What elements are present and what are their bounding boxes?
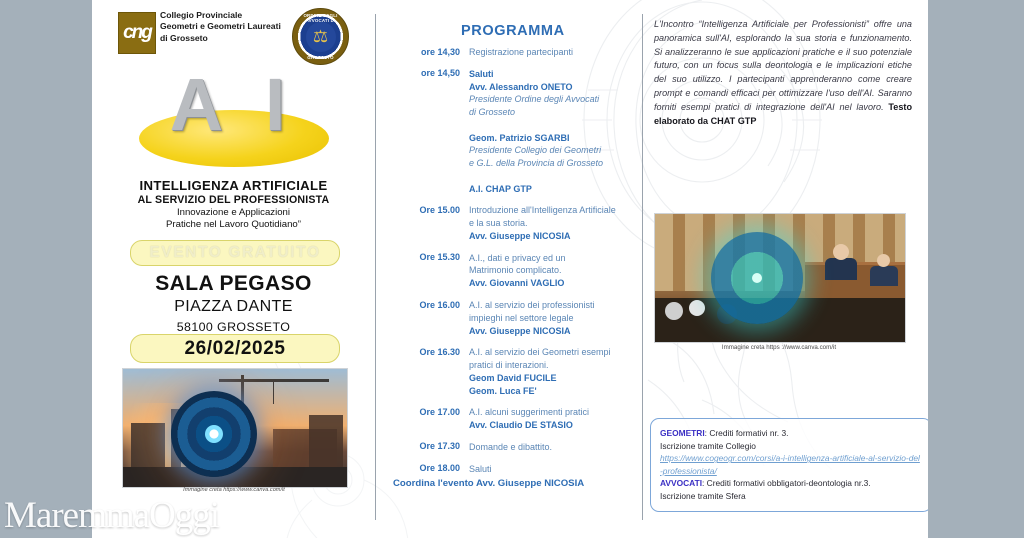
program-line: Geom. Luca FE': [469, 385, 637, 398]
program-line: A.I., dati e privacy ed un: [469, 252, 637, 265]
courtroom-ai-image: [654, 213, 906, 343]
registration-url-link[interactable]: https://www.cogeogr.com/corsi/a-i-intell…: [660, 452, 922, 477]
program-line: Presidente Ordine degli Avvocati: [469, 93, 637, 106]
program-time: Ore 17.30: [385, 441, 469, 454]
maremmaoggi-tld: .net: [223, 513, 245, 534]
poster-column: cng Collegio Provinciale Geometri e Geom…: [92, 0, 375, 538]
program-line: Avv. Giuseppe NICOSIA: [469, 230, 637, 243]
ai-letters: A I: [92, 68, 375, 142]
program-time: Ore 17.00: [385, 406, 469, 432]
program-time: Ore 18.00: [385, 463, 469, 476]
program-row: Ore 15.30A.I., dati e privacy ed unMatri…: [385, 252, 637, 290]
program-line: Saluti: [469, 68, 637, 81]
ai-hero-graphic: A I: [92, 68, 375, 176]
audience-head-1: [665, 302, 683, 320]
program-line: Avv. Alessandro ONETO: [469, 81, 637, 94]
program-line: A.I. CHAP GTP: [469, 183, 637, 196]
program-line: Geom David FUCILE: [469, 372, 637, 385]
credits-info-box: GEOMETRI: Crediti formativi nr. 3. Iscri…: [650, 418, 928, 512]
clerk-head: [877, 254, 890, 267]
program-line: di Grosseto: [469, 106, 637, 119]
venue-name: SALA PEGASO: [92, 272, 375, 296]
avvocati-credits: : Crediti formativi obbligatori-deontolo…: [702, 478, 871, 488]
judge-head: [833, 244, 849, 260]
program-line: e G.L. della Provincia di Grosseto: [469, 157, 637, 170]
description-column: L'Incontro “Intelligenza Artificiale per…: [642, 0, 928, 538]
geometri-registration: Iscrizione tramite Collegio: [660, 441, 756, 451]
program-entry: SalutiAvv. Alessandro ONETOPresidente Or…: [469, 68, 637, 196]
event-date-badge: 26/02/2025: [130, 334, 340, 363]
program-time: Ore 15.30: [385, 252, 469, 290]
neural-network-sphere: [711, 232, 803, 324]
collegio-geometri-logo: cng: [118, 12, 156, 54]
venue-city: 58100 GROSSETO: [92, 320, 375, 334]
poster-subtitle: AL SERVIZIO DEL PROFESSIONISTA: [92, 194, 375, 206]
program-row: ore 14,30Registrazione partecipanti: [385, 46, 637, 59]
collegio-line-1: Collegio Provinciale: [160, 10, 310, 21]
maremmaoggi-watermark: MaremmaOggi .net: [4, 486, 254, 534]
collegio-line-2: Geometri e Geometri Laureati: [160, 21, 310, 32]
program-entry: A.I. alcuni suggerimenti praticiAvv. Cla…: [469, 406, 637, 432]
program-line: impieghi nel settore legale: [469, 312, 637, 325]
program-line: Presidente Collegio dei Geometri: [469, 144, 637, 157]
program-line: Introduzione all'Intelligenza Artificial…: [469, 204, 637, 217]
program-title: PROGRAMMA: [461, 23, 565, 39]
program-entry: Registrazione partecipanti: [469, 46, 637, 59]
program-entry: Domande e dibattito.: [469, 441, 637, 454]
geometri-credits: : Crediti formativi nr. 3.: [705, 428, 789, 438]
venue-address: PIAZZA DANTE: [92, 298, 375, 316]
program-line: A.I. alcuni suggerimenti pratici: [469, 406, 637, 419]
avvocati-registration: Iscrizione tramite Sfera: [660, 491, 746, 501]
program-time: Ore 16.00: [385, 299, 469, 337]
program-row: Ore 16.00A.I. al servizio dei profession…: [385, 299, 637, 337]
program-list: ore 14,30Registrazione partecipantiore 1…: [385, 46, 637, 484]
flyer-document: cng Collegio Provinciale Geometri e Geom…: [92, 0, 928, 538]
description-image-caption: Immagine creta https ://www.canva.com/it: [654, 344, 904, 351]
program-line: [469, 119, 637, 132]
program-line: A.I. al servizio dei professionisti: [469, 299, 637, 312]
clerk-body: [870, 266, 898, 286]
program-line: e la sua storia.: [469, 217, 637, 230]
program-entry: A.I. al servizio dei professionistiimpie…: [469, 299, 637, 337]
program-entry: A.I., dati e privacy ed unMatrimonio com…: [469, 252, 637, 290]
program-time: ore 14,30: [385, 46, 469, 59]
program-row: Ore 17.30Domande e dibattito.: [385, 441, 637, 454]
program-time: ore 14,50: [385, 68, 469, 196]
program-time: Ore 16.30: [385, 346, 469, 397]
free-event-badge: EVENTO GRATUITO: [130, 240, 340, 266]
program-entry: Saluti: [469, 463, 637, 476]
program-entry: A.I. al servizio dei Geometri esempiprat…: [469, 346, 637, 397]
scales-of-justice-icon: ⚖: [306, 22, 336, 52]
poster-tagline-2: Pratiche nel Lavoro Quotidiano”: [92, 219, 375, 230]
program-row: Ore 17.00A.I. alcuni suggerimenti pratic…: [385, 406, 637, 432]
program-line: Avv. Giovanni VAGLIO: [469, 277, 637, 290]
poster-title: INTELLIGENZA ARTIFICIALE: [92, 178, 375, 193]
seal-bottom-text: GROSSETO: [293, 55, 348, 60]
judge-body: [825, 258, 857, 280]
program-row: Ore 18.00Saluti: [385, 463, 637, 476]
program-line: Avv. Giuseppe NICOSIA: [469, 325, 637, 338]
logo-header: cng Collegio Provinciale Geometri e Geom…: [92, 6, 375, 64]
program-line: Geom. Patrizio SGARBI: [469, 132, 637, 145]
collegio-geometri-name: Collegio Provinciale Geometri e Geometri…: [160, 10, 310, 44]
program-entry: Introduzione all'Intelligenza Artificial…: [469, 204, 637, 242]
crane-cable: [273, 382, 274, 404]
program-line: Saluti: [469, 463, 637, 476]
program-row: Ore 15.00Introduzione all'Intelligenza A…: [385, 204, 637, 242]
cng-logo-glyph: cng: [123, 22, 151, 44]
crane-arm: [219, 379, 329, 382]
poster-tagline-1: Innovazione e Applicazioni: [92, 207, 375, 218]
program-line: pratici di interazioni.: [469, 359, 637, 372]
geometri-label: GEOMETRI: [660, 428, 705, 438]
program-line: Avv. Claudio DE STASIO: [469, 419, 637, 432]
program-coordinator: Coordina l'evento Avv. Giuseppe NICOSIA: [393, 478, 643, 489]
maremmaoggi-brand: MaremmaOggi: [4, 497, 219, 534]
construction-ai-image: [122, 368, 348, 488]
ai-eye-sphere: [171, 391, 257, 477]
description-body: L'Incontro “Intelligenza Artificiale per…: [654, 19, 912, 112]
program-column: PROGRAMMA ore 14,30Registrazione parteci…: [375, 0, 642, 538]
collegio-line-3: di Grosseto: [160, 33, 310, 44]
ordine-avvocati-seal: ORDINE DEGLI AVVOCATI DI ⚖ GROSSETO: [292, 8, 349, 65]
program-row: ore 14,50SalutiAvv. Alessandro ONETOPres…: [385, 68, 637, 196]
program-line: [469, 170, 637, 183]
program-line: Domande e dibattito.: [469, 441, 637, 454]
program-line: A.I. al servizio dei Geometri esempi: [469, 346, 637, 359]
program-row: Ore 16.30A.I. al servizio dei Geometri e…: [385, 346, 637, 397]
avvocati-label: AVVOCATI: [660, 478, 702, 488]
description-block: L'Incontro “Intelligenza Artificiale per…: [654, 18, 912, 129]
audience-head-2: [689, 300, 705, 316]
program-line: Registrazione partecipanti: [469, 46, 637, 59]
program-line: Matrimonio complicato.: [469, 264, 637, 277]
program-time: Ore 15.00: [385, 204, 469, 242]
